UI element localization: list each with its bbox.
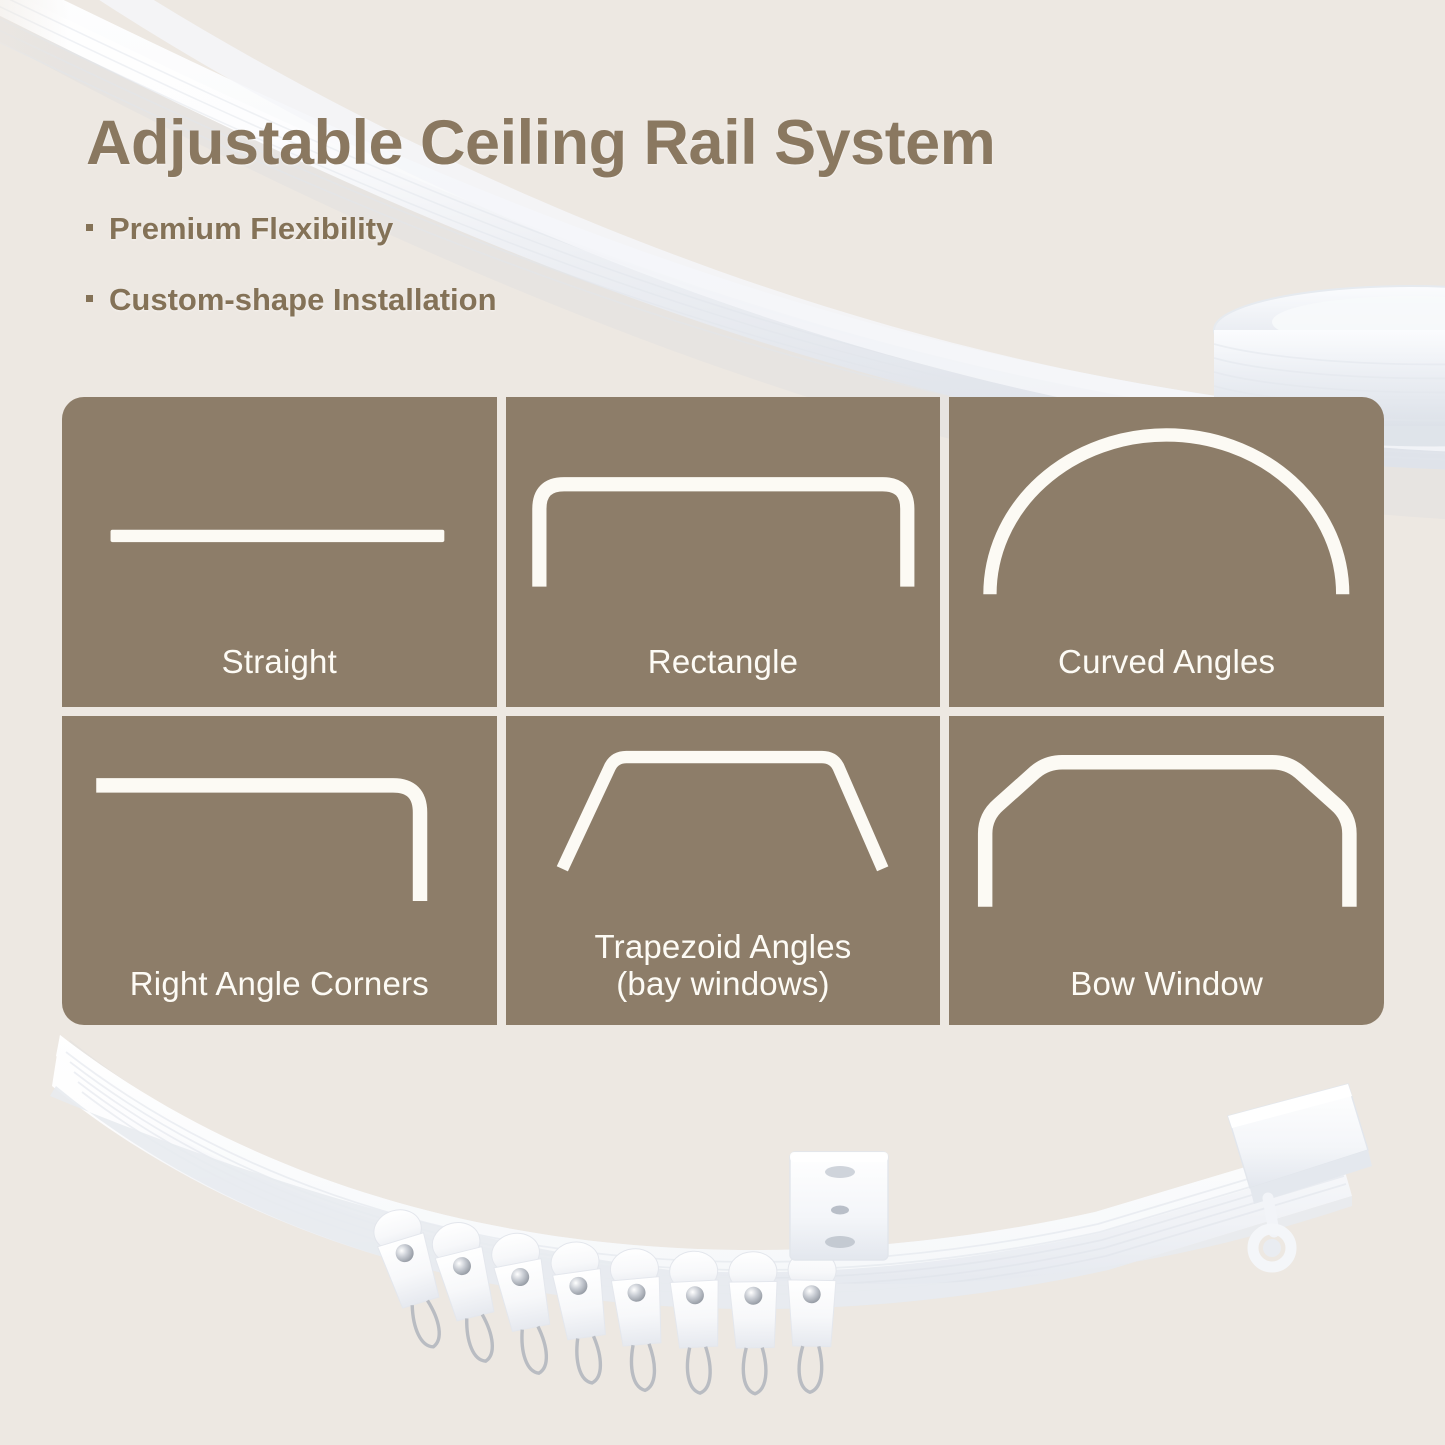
right-angle-l-shape-icon — [62, 716, 497, 967]
product-infographic: Adjustable Ceiling Rail System Premium F… — [0, 0, 1445, 1445]
bullet-dot-icon — [86, 224, 93, 231]
feature-bullet-list: Premium Flexibility Custom-shape Install… — [86, 211, 1286, 318]
bullet-label: Custom-shape Installation — [109, 282, 497, 318]
rectangle-u-shape-icon — [506, 397, 941, 644]
arc-shape-icon — [949, 397, 1384, 644]
header-block: Adjustable Ceiling Rail System Premium F… — [86, 112, 1286, 318]
list-item: Premium Flexibility — [86, 211, 1286, 247]
list-item: Custom-shape Installation — [86, 282, 1286, 318]
shape-card-bow-window[interactable]: Bow Window — [949, 716, 1384, 1026]
shape-card-label: Straight — [62, 644, 497, 707]
shape-card-label: Trapezoid Angles (bay windows) — [506, 929, 941, 1025]
shape-options-grid: Straight Rectangle Curved Angles — [62, 397, 1384, 1025]
end-cap — [1228, 1084, 1372, 1267]
shape-card-label: Rectangle — [506, 644, 941, 707]
trapezoid-shape-icon — [506, 716, 941, 930]
shape-card-label: Bow Window — [949, 966, 1384, 1025]
shape-card-straight[interactable]: Straight — [62, 397, 497, 707]
shape-card-curved-angles[interactable]: Curved Angles — [949, 397, 1384, 707]
glider-group — [369, 1204, 837, 1394]
page-title: Adjustable Ceiling Rail System — [86, 112, 1286, 175]
bow-window-shape-icon — [949, 716, 1384, 967]
straight-line-shape-icon — [62, 397, 497, 644]
bullet-dot-icon — [86, 295, 93, 302]
bullet-label: Premium Flexibility — [109, 211, 393, 247]
shape-card-label: Curved Angles — [949, 644, 1384, 707]
shape-card-rectangle[interactable]: Rectangle — [506, 397, 941, 707]
shape-card-label: Right Angle Corners — [62, 966, 497, 1025]
shape-card-trapezoid-angles[interactable]: Trapezoid Angles (bay windows) — [506, 716, 941, 1026]
mount-bracket — [790, 1152, 888, 1260]
shape-card-right-angle-corners[interactable]: Right Angle Corners — [62, 716, 497, 1026]
